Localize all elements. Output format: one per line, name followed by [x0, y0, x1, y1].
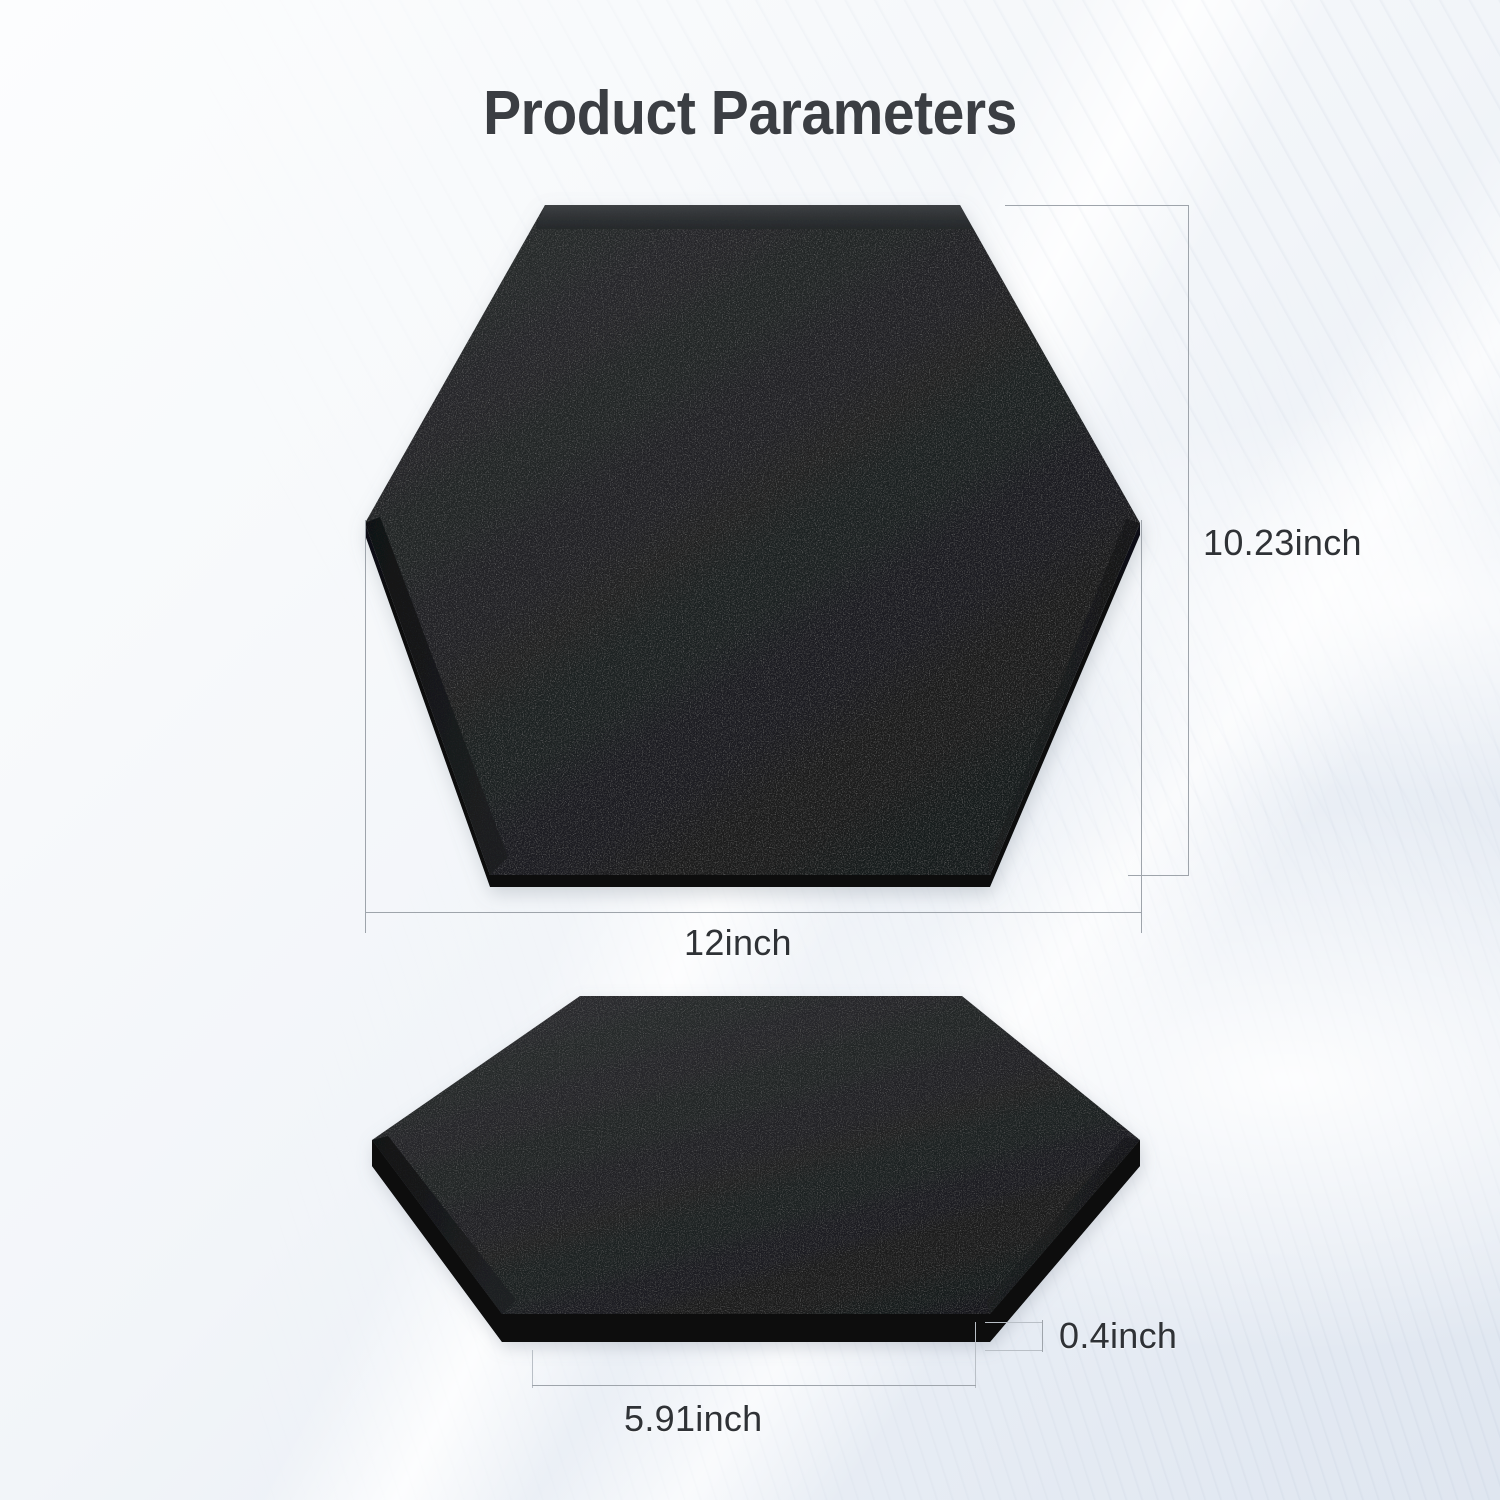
height-extension-line-bottom	[1128, 875, 1189, 876]
product-parameters-graphic: Product Parameters	[0, 0, 1500, 1500]
perspective-panel-body	[372, 996, 1140, 1342]
perspective-hexagon-view	[350, 980, 1180, 1380]
side-dimension-line	[532, 1385, 976, 1386]
thickness-extension-line-top	[985, 1322, 1043, 1323]
thickness-dimension-label: 0.4inch	[1059, 1315, 1177, 1357]
width-dimension-line	[365, 912, 1142, 913]
hexagon-bottom-shadow	[490, 875, 990, 885]
side-extension-line-left	[532, 1350, 533, 1388]
thickness-extension-line-bottom	[985, 1350, 1043, 1351]
height-dimension-line	[1188, 205, 1189, 875]
width-extension-line-right	[1141, 520, 1142, 933]
panel-front-face	[502, 1314, 990, 1342]
height-extension-line-top	[1005, 205, 1189, 206]
page-title: Product Parameters	[60, 78, 1440, 149]
width-dimension-label: 12inch	[684, 922, 792, 964]
hexagon-panel-body	[365, 205, 1140, 887]
height-dimension-label: 10.23inch	[1203, 522, 1362, 564]
side-dimension-label: 5.91inch	[624, 1398, 763, 1440]
thickness-dimension-line	[1042, 1320, 1043, 1352]
hexagon-top-bevel	[536, 205, 973, 229]
front-hexagon-view	[340, 185, 1170, 905]
width-extension-line-left	[365, 520, 366, 933]
side-extension-line-right	[975, 1322, 976, 1388]
